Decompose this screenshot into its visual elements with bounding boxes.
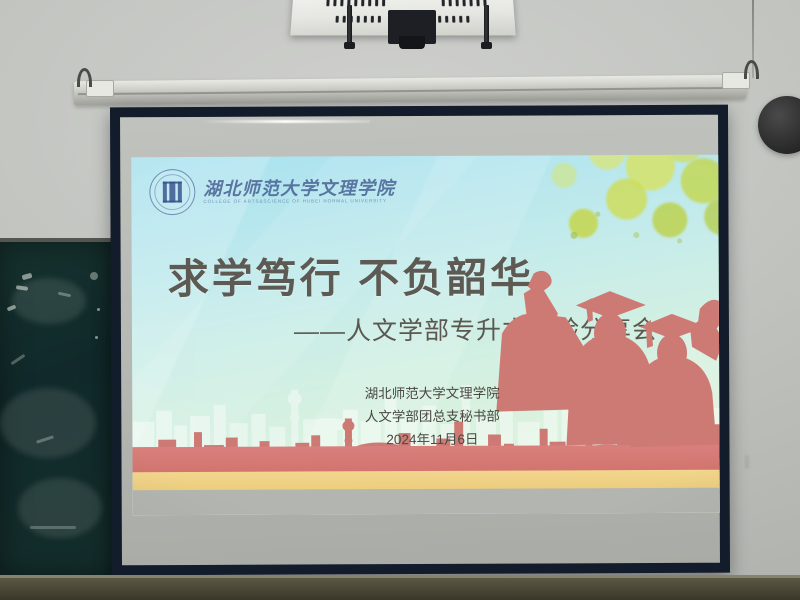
chalkboard [0,238,125,580]
slide-title: 求学笃行 不负韶华 [168,244,535,306]
tree-foliage-speckles [511,155,720,266]
slide-footer-block: 湖北师范大学文理学院 人文学部团总支秘书部 2024年11月6日 [332,382,532,453]
chalkboard-tray-highlight [0,575,800,578]
logo-english-name: COLLEGE OF ARTS&SCIENCE OF HUBEI NORMAL … [203,198,395,204]
slide-footer-date: 2024年11月6日 [332,428,532,452]
projector-mount-rod [347,5,352,47]
logo-text-block: 湖北师范大学文理学院 COLLEGE OF ARTS&SCIENCE OF HU… [203,179,395,204]
slide-footer-department: 人文学部团总支秘书部 [332,405,532,429]
projection-screen-surface: 湖北师范大学文理学院 COLLEGE OF ARTS&SCIENCE OF HU… [120,115,720,566]
projector-rod-cap [481,42,492,49]
projector-lens-barrel [399,36,425,49]
projector-light-edge [200,120,370,123]
chalkboard-frame-top [0,238,120,242]
logo-chinese-name: 湖北师范大学文理学院 [203,179,395,198]
slide-footer-organization: 湖北师范大学文理学院 [332,382,532,406]
university-logo: 湖北师范大学文理学院 COLLEGE OF ARTS&SCIENCE OF HU… [149,168,395,215]
classroom-scene: 湖北师范大学文理学院 COLLEGE OF ARTS&SCIENCE OF HU… [0,0,800,600]
projector-rod-cap [344,42,355,49]
university-emblem-icon [149,169,195,215]
wall-scuff-mark [745,455,749,469]
chalkboard-tray [0,575,800,600]
projection-screen: 湖北师范大学文理学院 COLLEGE OF ARTS&SCIENCE OF HU… [110,105,730,576]
projected-slide: 湖北师范大学文理学院 COLLEGE OF ARTS&SCIENCE OF HU… [131,155,720,516]
slide-bottom-band [133,488,720,516]
emblem-book-glyph [163,182,182,203]
projector-mount-rod [484,5,489,47]
